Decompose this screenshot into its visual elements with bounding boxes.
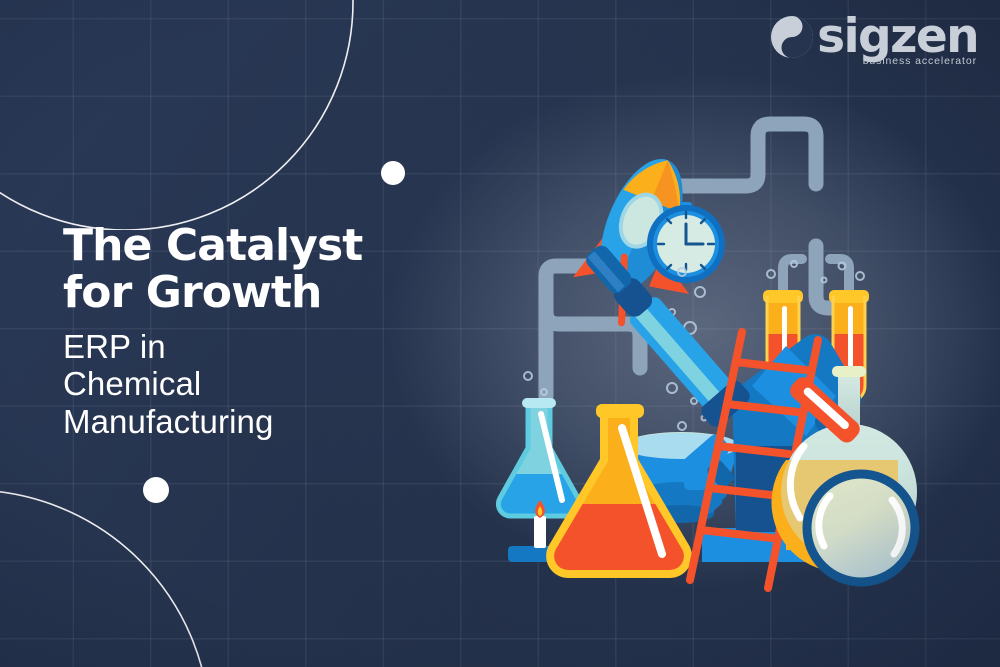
- logo-tagline: business accelerator: [863, 55, 977, 67]
- hero-copy: The Catalyst for Growth ERP in Chemical …: [63, 222, 463, 440]
- hero-banner: sigzen business accelerator The Catalyst…: [0, 0, 1000, 667]
- conical-flask-blue: [498, 398, 579, 516]
- page-title: The Catalyst for Growth: [63, 222, 463, 316]
- subhead-line-2: Chemical: [63, 365, 201, 402]
- sigzen-swirl-icon: [769, 14, 815, 65]
- subhead-line-1: ERP in: [63, 328, 166, 365]
- decorative-dot-top-left: [376, 156, 410, 190]
- subhead-line-3: Manufacturing: [63, 403, 273, 440]
- sigzen-logo[interactable]: sigzen business accelerator: [769, 14, 978, 67]
- decorative-arc-top-left: [0, 0, 430, 230]
- decorative-dot-bottom-left: [139, 473, 173, 507]
- chemical-lab-illustration: [486, 96, 1000, 596]
- decorative-arc-bottom-left: [0, 440, 260, 667]
- headline-line-2: for Growth: [63, 267, 321, 318]
- logo-wordmark: sigzen: [817, 14, 978, 60]
- page-subtitle: ERP in Chemical Manufacturing: [63, 328, 463, 440]
- headline-line-1: The Catalyst: [63, 220, 362, 271]
